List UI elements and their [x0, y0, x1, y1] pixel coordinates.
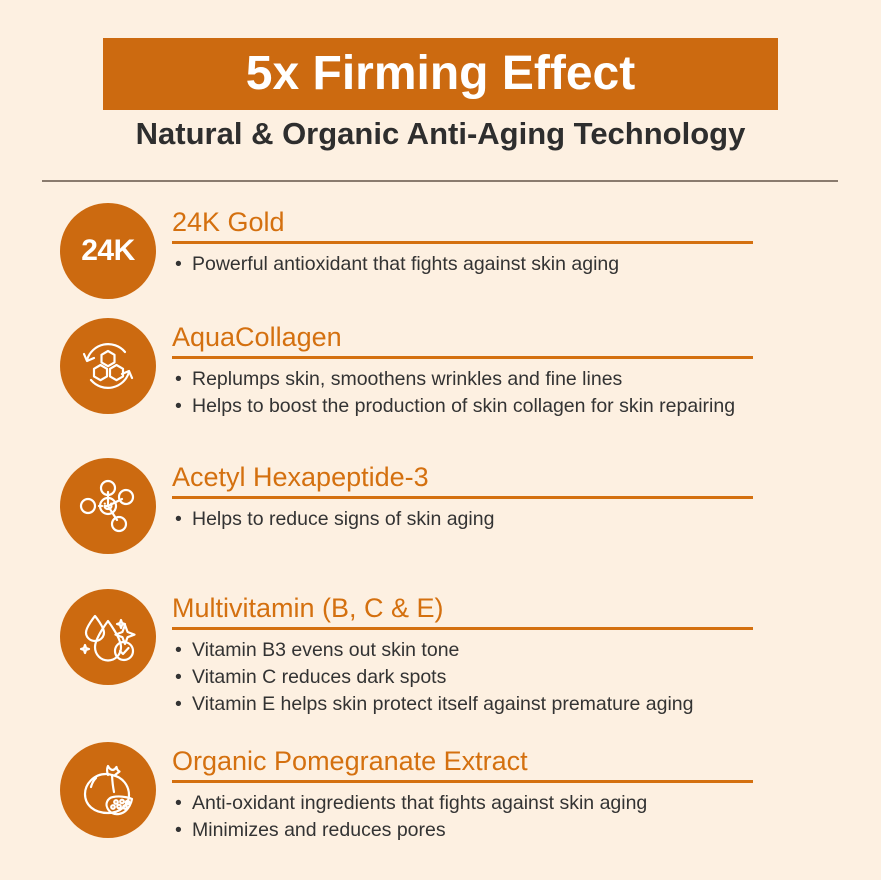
page-subtitle: Natural & Organic Anti-Aging Technology	[0, 117, 881, 151]
title-banner: 5x Firming Effect	[103, 38, 778, 110]
list-item-text: Vitamin B3 evens out skin tone	[192, 639, 459, 661]
title-underline	[172, 241, 753, 244]
list-item: •Vitamin E helps skin protect itself aga…	[172, 692, 754, 718]
list-item-text: Replumps skin, smoothens wrinkles and fi…	[192, 368, 622, 390]
list-item-text: Helps to reduce signs of skin aging	[192, 508, 494, 530]
peptide-molecule-glyph	[75, 475, 141, 537]
title-underline	[172, 496, 753, 499]
list-item-text: Vitamin E helps skin protect itself agai…	[192, 693, 694, 715]
list-item-text: Anti-oxidant ingredients that fights aga…	[192, 792, 647, 814]
bullet-glyph: •	[175, 791, 182, 817]
bullet-glyph: •	[175, 394, 182, 420]
title-underline	[172, 356, 753, 359]
list-item: •Vitamin C reduces dark spots	[172, 665, 754, 691]
list-item-text: Minimizes and reduces pores	[192, 819, 446, 841]
list-item: •Anti-oxidant ingredients that fights ag…	[172, 791, 754, 817]
vitamin-droplet-sparkle-glyph	[75, 606, 141, 668]
title-underline	[172, 627, 753, 630]
bullet-glyph: •	[175, 665, 182, 691]
list-item-text: Helps to boost the production of skin co…	[192, 395, 735, 417]
list-item: •Helps to reduce signs of skin aging	[172, 507, 754, 533]
honeycomb-collagen-glyph	[77, 335, 139, 397]
24k-gold-badge-icon: 24K	[60, 203, 156, 299]
list-item-text: Powerful antioxidant that fights against…	[192, 253, 619, 275]
pomegranate-icon	[60, 742, 156, 838]
ingredient-title: Multivitamin (B, C & E)	[172, 593, 754, 623]
bullet-glyph: •	[175, 818, 182, 844]
list-item-text: Vitamin C reduces dark spots	[192, 666, 446, 688]
badge-label: 24K	[81, 236, 135, 266]
bullet-list: •Helps to reduce signs of skin aging	[172, 507, 754, 533]
header-divider	[42, 180, 838, 182]
title-underline	[172, 780, 753, 783]
list-item: •Replumps skin, smoothens wrinkles and f…	[172, 367, 754, 393]
page-title: 5x Firming Effect	[246, 50, 635, 98]
bullet-glyph: •	[175, 638, 182, 664]
bullet-glyph: •	[175, 367, 182, 393]
bullet-glyph: •	[175, 692, 182, 718]
list-item: •Powerful antioxidant that fights agains…	[172, 252, 754, 278]
bullet-glyph: •	[175, 507, 182, 533]
bullet-list: •Vitamin B3 evens out skin tone •Vitamin…	[172, 638, 754, 718]
ingredient-title: Organic Pomegranate Extract	[172, 746, 754, 776]
ingredient-title: Acetyl Hexapeptide-3	[172, 462, 754, 492]
list-item: •Vitamin B3 evens out skin tone	[172, 638, 754, 664]
bullet-list: •Anti-oxidant ingredients that fights ag…	[172, 791, 754, 844]
ingredient-title: 24K Gold	[172, 207, 754, 237]
infographic-page: 5x Firming Effect Natural & Organic Anti…	[0, 0, 881, 880]
vitamin-droplet-sparkle-icon	[60, 589, 156, 685]
ingredient-title: AquaCollagen	[172, 322, 754, 352]
list-item: •Minimizes and reduces pores	[172, 818, 754, 844]
list-item: •Helps to boost the production of skin c…	[172, 394, 754, 420]
bullet-list: •Replumps skin, smoothens wrinkles and f…	[172, 367, 754, 420]
bullet-glyph: •	[175, 252, 182, 278]
honeycomb-collagen-icon	[60, 318, 156, 414]
bullet-list: •Powerful antioxidant that fights agains…	[172, 252, 754, 278]
pomegranate-glyph	[75, 759, 141, 821]
peptide-molecule-icon	[60, 458, 156, 554]
